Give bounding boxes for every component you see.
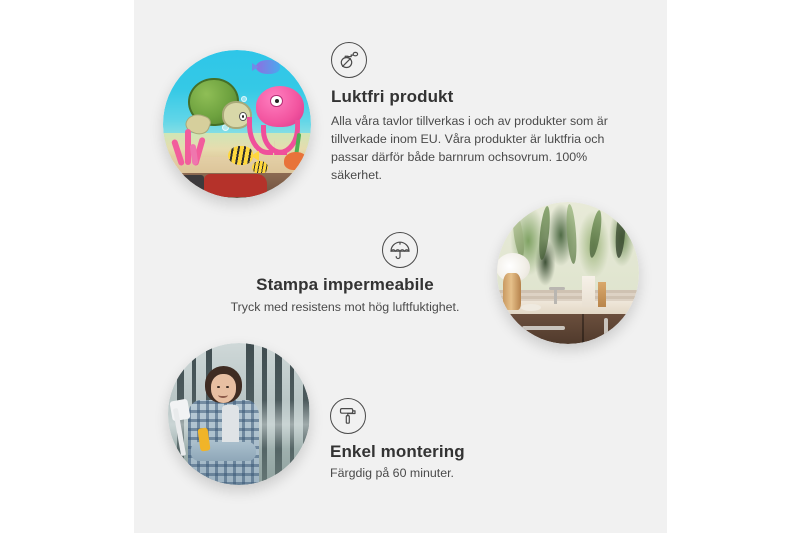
- paint-roller-icon: [330, 398, 366, 434]
- no-perfume-spray-icon: [331, 42, 367, 78]
- icon-wrap: [214, 232, 476, 268]
- feature-easy-mounting: Enkel montering Färgdig på 60 minuter.: [330, 398, 590, 483]
- feature-title: Stampa impermeabile: [214, 275, 476, 295]
- eye: [226, 386, 229, 388]
- feature-waterproof: Stampa impermeabile Tryck med resistens …: [214, 232, 476, 317]
- leaf-icon: [537, 206, 552, 261]
- vanity-cabinet: [503, 314, 639, 344]
- bathroom-scene: [497, 202, 639, 344]
- soap-bottle: [582, 276, 595, 307]
- leaf-icon: [587, 209, 603, 258]
- screenshot-root: Luktfri produkt Alla våra tavlor tillver…: [0, 0, 800, 533]
- feature-odour-free: Luktfri produkt Alla våra tavlor tillver…: [331, 42, 631, 185]
- coral-icon: [172, 127, 216, 165]
- leaf-icon: [565, 204, 578, 264]
- yellow-fish-icon: [228, 146, 253, 165]
- forest-scene: [168, 343, 310, 485]
- face: [211, 374, 237, 402]
- smile: [218, 392, 228, 398]
- cabinet-seam: [582, 314, 584, 344]
- underwater-scene: [163, 50, 311, 198]
- feature-body: Alla våra tavlor tillverkas i och av pro…: [331, 113, 631, 185]
- faucet-icon: [554, 287, 557, 304]
- crab-icon: [284, 152, 308, 170]
- product-image-bathroom[interactable]: [497, 202, 639, 344]
- blue-fish-icon: [256, 60, 280, 73]
- product-image-underwater[interactable]: [163, 50, 311, 198]
- feature-title: Luktfri produkt: [331, 87, 631, 107]
- vase: [503, 273, 521, 310]
- feature-title: Enkel montering: [330, 442, 590, 462]
- leaf-icon: [615, 208, 627, 259]
- product-image-forest[interactable]: [168, 343, 310, 485]
- feature-body: Färgdig på 60 minuter.: [330, 465, 590, 483]
- diffuser-bottle: [598, 282, 607, 308]
- door-handle: [604, 318, 608, 337]
- coral-branch: [171, 138, 185, 165]
- scene-foreground-strip: [163, 173, 311, 198]
- eye: [217, 386, 220, 388]
- octopus-eye: [270, 95, 283, 108]
- drawer-handle: [522, 326, 566, 330]
- umbrella-icon: [382, 232, 418, 268]
- feature-body: Tryck med resistens mot hög luftfuktighe…: [214, 299, 476, 317]
- leaf-icon: [511, 211, 526, 258]
- turtle-icon: [188, 77, 252, 132]
